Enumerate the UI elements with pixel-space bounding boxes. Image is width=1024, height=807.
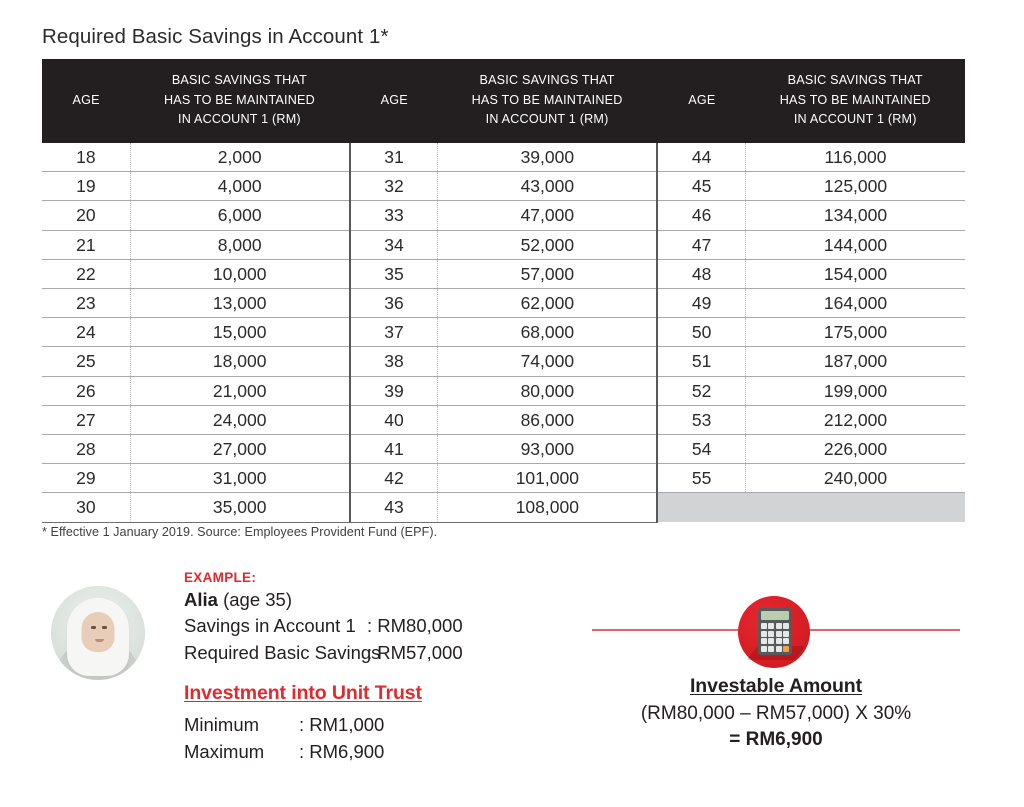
cell-savings: 57,000 (438, 259, 657, 288)
example-person-age: (age 35) (223, 589, 292, 610)
cell-savings: 31,000 (130, 464, 349, 493)
cell-age: 31 (350, 143, 438, 172)
cell-age: 29 (42, 464, 130, 493)
header-line-1: BASIC SAVINGS THAT (788, 73, 923, 87)
cell-age: 24 (42, 318, 130, 347)
cell-age: 28 (42, 434, 130, 463)
cell-savings: 134,000 (746, 201, 966, 230)
header-line-2: HAS TO BE MAINTAINED (780, 93, 931, 107)
column-header-savings-1: BASIC SAVINGS THAT HAS TO BE MAINTAINED … (130, 59, 349, 143)
column-header-age-3: AGE (657, 59, 745, 143)
example-row-value: : RM80,000 (367, 612, 463, 639)
avatar-eye-right (102, 626, 107, 629)
cell-savings: 52,000 (438, 230, 657, 259)
table-row: 206,0003347,00046134,000 (42, 201, 965, 230)
cell-age: 35 (350, 259, 438, 288)
cell-savings: 101,000 (438, 464, 657, 493)
investment-row-key: Minimum (184, 711, 299, 738)
cell-age: 47 (657, 230, 745, 259)
cell-savings: 47,000 (438, 201, 657, 230)
cell-savings: 212,000 (746, 405, 966, 434)
column-header-age-2: AGE (350, 59, 438, 143)
investment-title: Investment into Unit Trust (184, 682, 422, 705)
cell-age: 50 (657, 318, 745, 347)
cell-age: 49 (657, 288, 745, 317)
example-label: EXAMPLE: (184, 570, 584, 585)
example-row: Required Basic Savings : RM57,000 (184, 639, 584, 666)
cell-age: 38 (350, 347, 438, 376)
cell-age: 54 (657, 434, 745, 463)
cell-age: 25 (42, 347, 130, 376)
example-person: Alia (age 35) (184, 589, 584, 611)
cell-savings: 93,000 (438, 434, 657, 463)
example-person-name: Alia (184, 589, 218, 610)
cell-savings: 175,000 (746, 318, 966, 347)
column-header-savings-3: BASIC SAVINGS THAT HAS TO BE MAINTAINED … (746, 59, 966, 143)
cell-age: 33 (350, 201, 438, 230)
header-line-3: IN ACCOUNT 1 (RM) (178, 112, 301, 126)
cell-savings: 80,000 (438, 376, 657, 405)
cell-savings: 13,000 (130, 288, 349, 317)
cell-savings: 86,000 (438, 405, 657, 434)
investable-amount-block: Investable Amount (RM80,000 – RM57,000) … (592, 675, 960, 751)
header-line-1: BASIC SAVINGS THAT (172, 73, 307, 87)
cell-age: 41 (350, 434, 438, 463)
header-line-3: IN ACCOUNT 1 (RM) (794, 112, 917, 126)
header-line-3: IN ACCOUNT 1 (RM) (486, 112, 609, 126)
cell-savings: 27,000 (130, 434, 349, 463)
cell-savings: 39,000 (438, 143, 657, 172)
cell-savings: 4,000 (130, 172, 349, 201)
table-row: 2518,0003874,00051187,000 (42, 347, 965, 376)
required-basic-savings-table: AGE BASIC SAVINGS THAT HAS TO BE MAINTAI… (42, 59, 965, 523)
cell-age: 21 (42, 230, 130, 259)
header-line-2: HAS TO BE MAINTAINED (472, 93, 623, 107)
cell-savings: 240,000 (746, 464, 966, 493)
cell-savings: 2,000 (130, 143, 349, 172)
investment-row-value: : RM6,900 (299, 738, 384, 765)
cell-savings: 125,000 (746, 172, 966, 201)
calculator-icon-screen (761, 611, 789, 620)
table-row: 218,0003452,00047144,000 (42, 230, 965, 259)
cell-age: 46 (657, 201, 745, 230)
savings-table-container: AGE BASIC SAVINGS THAT HAS TO BE MAINTAI… (42, 59, 965, 523)
cell-age: 39 (350, 376, 438, 405)
cell-savings: 226,000 (746, 434, 966, 463)
cell-savings: 24,000 (130, 405, 349, 434)
cell-age: 34 (350, 230, 438, 259)
cell-age: 18 (42, 143, 130, 172)
cell-savings: 62,000 (438, 288, 657, 317)
cell-savings: 74,000 (438, 347, 657, 376)
table-body: 182,0003139,00044116,000194,0003243,0004… (42, 143, 965, 522)
investment-row-value: : RM1,000 (299, 711, 384, 738)
table-header: AGE BASIC SAVINGS THAT HAS TO BE MAINTAI… (42, 59, 965, 143)
calculator-icon-body (758, 608, 792, 655)
cell-savings: 8,000 (130, 230, 349, 259)
avatar-eye-left (91, 626, 96, 629)
cell-age: 19 (42, 172, 130, 201)
investment-rows: Minimum : RM1,000 Maximum : RM6,900 (184, 711, 584, 765)
cell-savings: 10,000 (130, 259, 349, 288)
investment-row-key: Maximum (184, 738, 299, 765)
cell-savings: 187,000 (746, 347, 966, 376)
table-row: 2313,0003662,00049164,000 (42, 288, 965, 317)
calculator-icon-keys (761, 623, 789, 652)
cell-age: 43 (350, 493, 438, 522)
avatar (51, 586, 145, 680)
example-row-key: Savings in Account 1 (184, 612, 367, 639)
investment-row: Minimum : RM1,000 (184, 711, 584, 738)
table-row: 2931,00042101,00055240,000 (42, 464, 965, 493)
column-header-age-1: AGE (42, 59, 130, 143)
investable-amount-total: = RM6,900 (592, 729, 960, 751)
cell-savings: 144,000 (746, 230, 966, 259)
table-footnote: * Effective 1 January 2019. Source: Empl… (42, 525, 437, 539)
cell-savings: 108,000 (438, 493, 657, 522)
table-row: 2724,0004086,00053212,000 (42, 405, 965, 434)
header-line-2: HAS TO BE MAINTAINED (164, 93, 315, 107)
cell-savings: 164,000 (746, 288, 966, 317)
cell-empty (746, 493, 966, 522)
cell-savings: 18,000 (130, 347, 349, 376)
example-row: Savings in Account 1 : RM80,000 (184, 612, 584, 639)
header-line-1: BASIC SAVINGS THAT (479, 73, 614, 87)
cell-age: 42 (350, 464, 438, 493)
cell-savings: 154,000 (746, 259, 966, 288)
investment-row: Maximum : RM6,900 (184, 738, 584, 765)
cell-age: 20 (42, 201, 130, 230)
cell-savings: 68,000 (438, 318, 657, 347)
investable-amount-heading: Investable Amount (690, 675, 862, 698)
cell-savings: 15,000 (130, 318, 349, 347)
table-header-row: AGE BASIC SAVINGS THAT HAS TO BE MAINTAI… (42, 59, 965, 143)
cell-savings: 116,000 (746, 143, 966, 172)
column-header-savings-2: BASIC SAVINGS THAT HAS TO BE MAINTAINED … (438, 59, 657, 143)
page-title: Required Basic Savings in Account 1* (42, 25, 389, 49)
cell-savings: 43,000 (438, 172, 657, 201)
cell-age: 22 (42, 259, 130, 288)
cell-age: 44 (657, 143, 745, 172)
cell-empty (657, 493, 745, 522)
cell-age: 51 (657, 347, 745, 376)
cell-age: 26 (42, 376, 130, 405)
example-block: EXAMPLE: Alia (age 35) Savings in Accoun… (184, 570, 584, 765)
infographic-page: Required Basic Savings in Account 1* AGE… (0, 0, 1024, 807)
cell-savings: 199,000 (746, 376, 966, 405)
table-row: 2210,0003557,00048154,000 (42, 259, 965, 288)
table-row: 194,0003243,00045125,000 (42, 172, 965, 201)
example-row-key: Required Basic Savings (184, 639, 367, 666)
cell-age: 52 (657, 376, 745, 405)
table-row: 182,0003139,00044116,000 (42, 143, 965, 172)
cell-savings: 21,000 (130, 376, 349, 405)
cell-age: 40 (350, 405, 438, 434)
table-row: 2621,0003980,00052199,000 (42, 376, 965, 405)
calculator-icon (738, 596, 810, 668)
cell-savings: 35,000 (130, 493, 349, 522)
cell-age: 45 (657, 172, 745, 201)
table-row: 2827,0004193,00054226,000 (42, 434, 965, 463)
cell-age: 55 (657, 464, 745, 493)
avatar-face (82, 612, 115, 652)
cell-age: 32 (350, 172, 438, 201)
cell-age: 48 (657, 259, 745, 288)
cell-age: 37 (350, 318, 438, 347)
example-row-value: : RM57,000 (367, 639, 463, 666)
cell-age: 36 (350, 288, 438, 317)
cell-age: 30 (42, 493, 130, 522)
cell-age: 53 (657, 405, 745, 434)
table-row: 3035,00043108,000 (42, 493, 965, 522)
cell-age: 27 (42, 405, 130, 434)
investable-amount-formula: (RM80,000 – RM57,000) X 30% (592, 703, 960, 725)
cell-savings: 6,000 (130, 201, 349, 230)
table-row: 2415,0003768,00050175,000 (42, 318, 965, 347)
cell-age: 23 (42, 288, 130, 317)
